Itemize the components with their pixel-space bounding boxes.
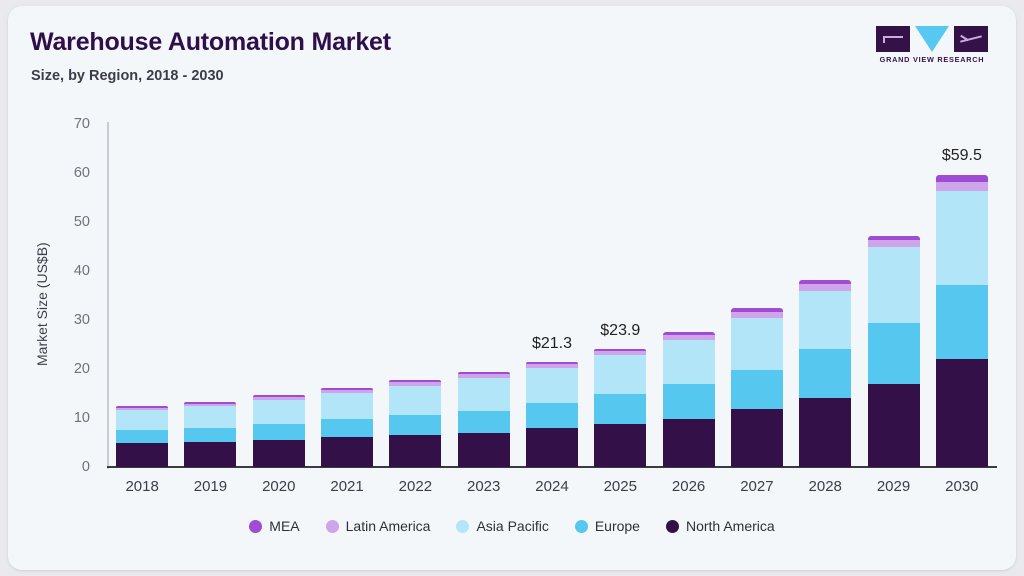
- bar-segment[interactable]: [184, 428, 236, 442]
- y-axis-tick-label: 10: [30, 410, 90, 426]
- legend-label: MEA: [269, 518, 299, 534]
- legend-item[interactable]: North America: [666, 518, 775, 534]
- bar-stack[interactable]: [116, 124, 168, 467]
- y-axis-title: Market Size (US$B): [34, 242, 50, 366]
- bar-segment[interactable]: [731, 312, 783, 318]
- bar-segment[interactable]: [936, 285, 988, 359]
- legend-color-swatch-icon: [666, 520, 679, 533]
- logo-left-box-icon: [876, 26, 910, 52]
- bar-segment[interactable]: [594, 355, 646, 394]
- bar-segment[interactable]: [526, 428, 578, 467]
- logo-text: GRAND VIEW RESEARCH: [876, 55, 988, 64]
- bar-value-label: $23.9: [560, 322, 680, 340]
- bar-stack[interactable]: [731, 124, 783, 467]
- page-subtitle: Size, by Region, 2018 - 2030: [31, 68, 224, 84]
- bar-segment[interactable]: [253, 400, 305, 425]
- bar-segment[interactable]: [663, 340, 715, 384]
- bar-segment[interactable]: [799, 280, 851, 284]
- bar-segment[interactable]: [936, 191, 988, 285]
- bar-stack[interactable]: [458, 124, 510, 467]
- bar-segment[interactable]: [184, 442, 236, 467]
- bar-segment[interactable]: [389, 380, 441, 382]
- bar-stack[interactable]: [799, 124, 851, 467]
- bar-segment[interactable]: [526, 403, 578, 428]
- bar-segment[interactable]: [526, 362, 578, 364]
- bar-segment[interactable]: [116, 443, 168, 468]
- bar-stack[interactable]: [321, 124, 373, 467]
- legend-label: Europe: [595, 518, 640, 534]
- bar-segment[interactable]: [253, 395, 305, 397]
- bar-segment[interactable]: [116, 406, 168, 408]
- legend-color-swatch-icon: [575, 520, 588, 533]
- legend-color-swatch-icon: [249, 520, 262, 533]
- bar-segment[interactable]: [799, 398, 851, 467]
- legend-label: North America: [686, 518, 775, 534]
- brand-logo: GRAND VIEW RESEARCH: [876, 26, 988, 70]
- bar-segment[interactable]: [799, 349, 851, 398]
- legend-item[interactable]: Europe: [575, 518, 640, 534]
- bar-segment[interactable]: [526, 368, 578, 403]
- x-axis-tick-label: 2025: [586, 478, 654, 495]
- bar-segment[interactable]: [731, 370, 783, 410]
- bar-segment[interactable]: [731, 308, 783, 311]
- bar-segment[interactable]: [594, 424, 646, 467]
- bar-segment[interactable]: [731, 318, 783, 370]
- logo-right-box-icon: [954, 26, 988, 52]
- bar-segment[interactable]: [868, 323, 920, 384]
- bar-segment[interactable]: [184, 404, 236, 406]
- bar-segment[interactable]: [321, 437, 373, 467]
- bar-segment[interactable]: [321, 419, 373, 437]
- logo-marks: [876, 26, 988, 52]
- y-axis-tick-label: 50: [30, 214, 90, 230]
- bar-segment[interactable]: [321, 393, 373, 419]
- bar-segment[interactable]: [663, 419, 715, 468]
- bar-segment[interactable]: [868, 384, 920, 467]
- bar-segment[interactable]: [458, 374, 510, 378]
- bar-segment[interactable]: [936, 359, 988, 467]
- bar-segment[interactable]: [868, 236, 920, 240]
- logo-triangle-icon: [915, 26, 949, 52]
- x-axis-tick-label: 2019: [176, 478, 244, 495]
- bar-stack[interactable]: [936, 124, 988, 467]
- x-axis-tick-label: 2018: [108, 478, 176, 495]
- bar-segment[interactable]: [936, 182, 988, 191]
- legend-label: Asia Pacific: [476, 518, 548, 534]
- bar-segment[interactable]: [868, 247, 920, 323]
- bar-segment[interactable]: [253, 397, 305, 400]
- bar-segment[interactable]: [594, 394, 646, 424]
- bar-segment[interactable]: [868, 240, 920, 247]
- bar-segment[interactable]: [253, 440, 305, 467]
- bar-segment[interactable]: [799, 291, 851, 350]
- bar-segment[interactable]: [253, 424, 305, 439]
- x-axis-tick-label: 2022: [381, 478, 449, 495]
- legend-color-swatch-icon: [456, 520, 469, 533]
- x-axis-tick-label: 2021: [313, 478, 381, 495]
- bar-segment[interactable]: [458, 378, 510, 410]
- bar-stack[interactable]: [663, 124, 715, 467]
- legend-label: Latin America: [346, 518, 431, 534]
- bar-segment[interactable]: [936, 175, 988, 181]
- bar-segment[interactable]: [116, 410, 168, 430]
- y-axis-tick-label: 60: [30, 165, 90, 181]
- x-axis-tick-label: 2024: [518, 478, 586, 495]
- legend-color-swatch-icon: [326, 520, 339, 533]
- bar-segment[interactable]: [799, 284, 851, 290]
- bar-segment[interactable]: [389, 435, 441, 467]
- bar-segment[interactable]: [663, 384, 715, 419]
- chart-legend: MEALatin AmericaAsia PacificEuropeNorth …: [8, 518, 1016, 534]
- bar-segment[interactable]: [389, 386, 441, 415]
- bar-segment[interactable]: [184, 406, 236, 428]
- legend-item[interactable]: Latin America: [326, 518, 431, 534]
- bar-segment[interactable]: [458, 433, 510, 467]
- x-axis-tick-label: 2027: [723, 478, 791, 495]
- bar-segment[interactable]: [321, 388, 373, 390]
- x-axis-tick-label: 2023: [450, 478, 518, 495]
- bar-segment[interactable]: [458, 411, 510, 433]
- page-title: Warehouse Automation Market: [30, 28, 391, 57]
- bar-segment[interactable]: [526, 364, 578, 368]
- y-axis-tick-label: 70: [30, 116, 90, 132]
- bar-segment[interactable]: [389, 415, 441, 435]
- bar-segment[interactable]: [731, 409, 783, 467]
- bar-segment[interactable]: [116, 408, 168, 410]
- plot-area: [108, 124, 996, 467]
- bar-stack[interactable]: [868, 124, 920, 467]
- bar-segment[interactable]: [389, 382, 441, 385]
- x-axis-tick-label: 2030: [928, 478, 996, 495]
- chart-card: Warehouse Automation Market Size, by Reg…: [8, 6, 1016, 570]
- bar-value-label: $59.5: [902, 147, 1016, 165]
- bar-segment[interactable]: [116, 430, 168, 443]
- bar-stack[interactable]: [184, 124, 236, 467]
- x-axis-tick-label: 2026: [654, 478, 722, 495]
- legend-item[interactable]: Asia Pacific: [456, 518, 548, 534]
- bar-stack[interactable]: [594, 124, 646, 467]
- x-axis-tick-label: 2020: [245, 478, 313, 495]
- bar-segment[interactable]: [321, 390, 373, 393]
- bar-stack[interactable]: [389, 124, 441, 467]
- legend-item[interactable]: MEA: [249, 518, 299, 534]
- x-axis-tick-label: 2028: [791, 478, 859, 495]
- y-axis-tick-label: 0: [30, 459, 90, 475]
- x-axis-tick-label: 2029: [859, 478, 927, 495]
- bar-stack[interactable]: [526, 124, 578, 467]
- bar-segment[interactable]: [184, 402, 236, 404]
- bar-stack[interactable]: [253, 124, 305, 467]
